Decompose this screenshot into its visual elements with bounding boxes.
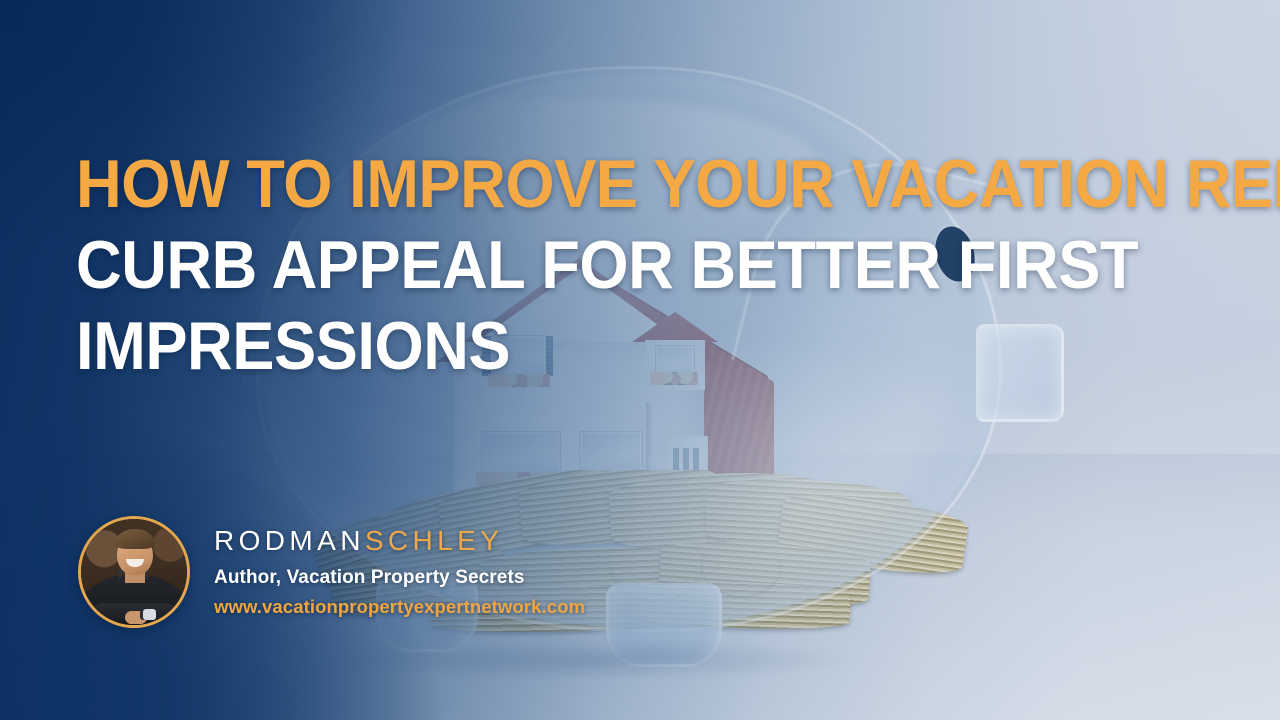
avatar — [78, 516, 190, 628]
author-byline: RODMANSCHLEY Author, Vacation Property S… — [78, 516, 585, 628]
blog-header-banner: HOW TO IMPROVE YOUR VACATION RENTAL'S CU… — [0, 0, 1280, 720]
author-last-name: SCHLEY — [365, 525, 503, 556]
byline-text-block: RODMANSCHLEY Author, Vacation Property S… — [214, 527, 585, 617]
author-name: RODMANSCHLEY — [214, 527, 585, 555]
avatar-wristwatch — [143, 609, 156, 620]
page-title: HOW TO IMPROVE YOUR VACATION RENTAL'S CU… — [76, 144, 1206, 387]
headline-line-1: HOW TO IMPROVE YOUR VACATION RENTAL'S — [76, 144, 1127, 225]
headline-line-2: CURB APPEAL FOR BETTER FIRST — [76, 225, 1127, 306]
headline-line-3: IMPRESSIONS — [76, 306, 1127, 387]
author-first-name: RODMAN — [214, 525, 365, 556]
author-role: Author, Vacation Property Secrets — [214, 568, 585, 587]
author-website: www.vacationpropertyexpertnetwork.com — [214, 598, 585, 617]
